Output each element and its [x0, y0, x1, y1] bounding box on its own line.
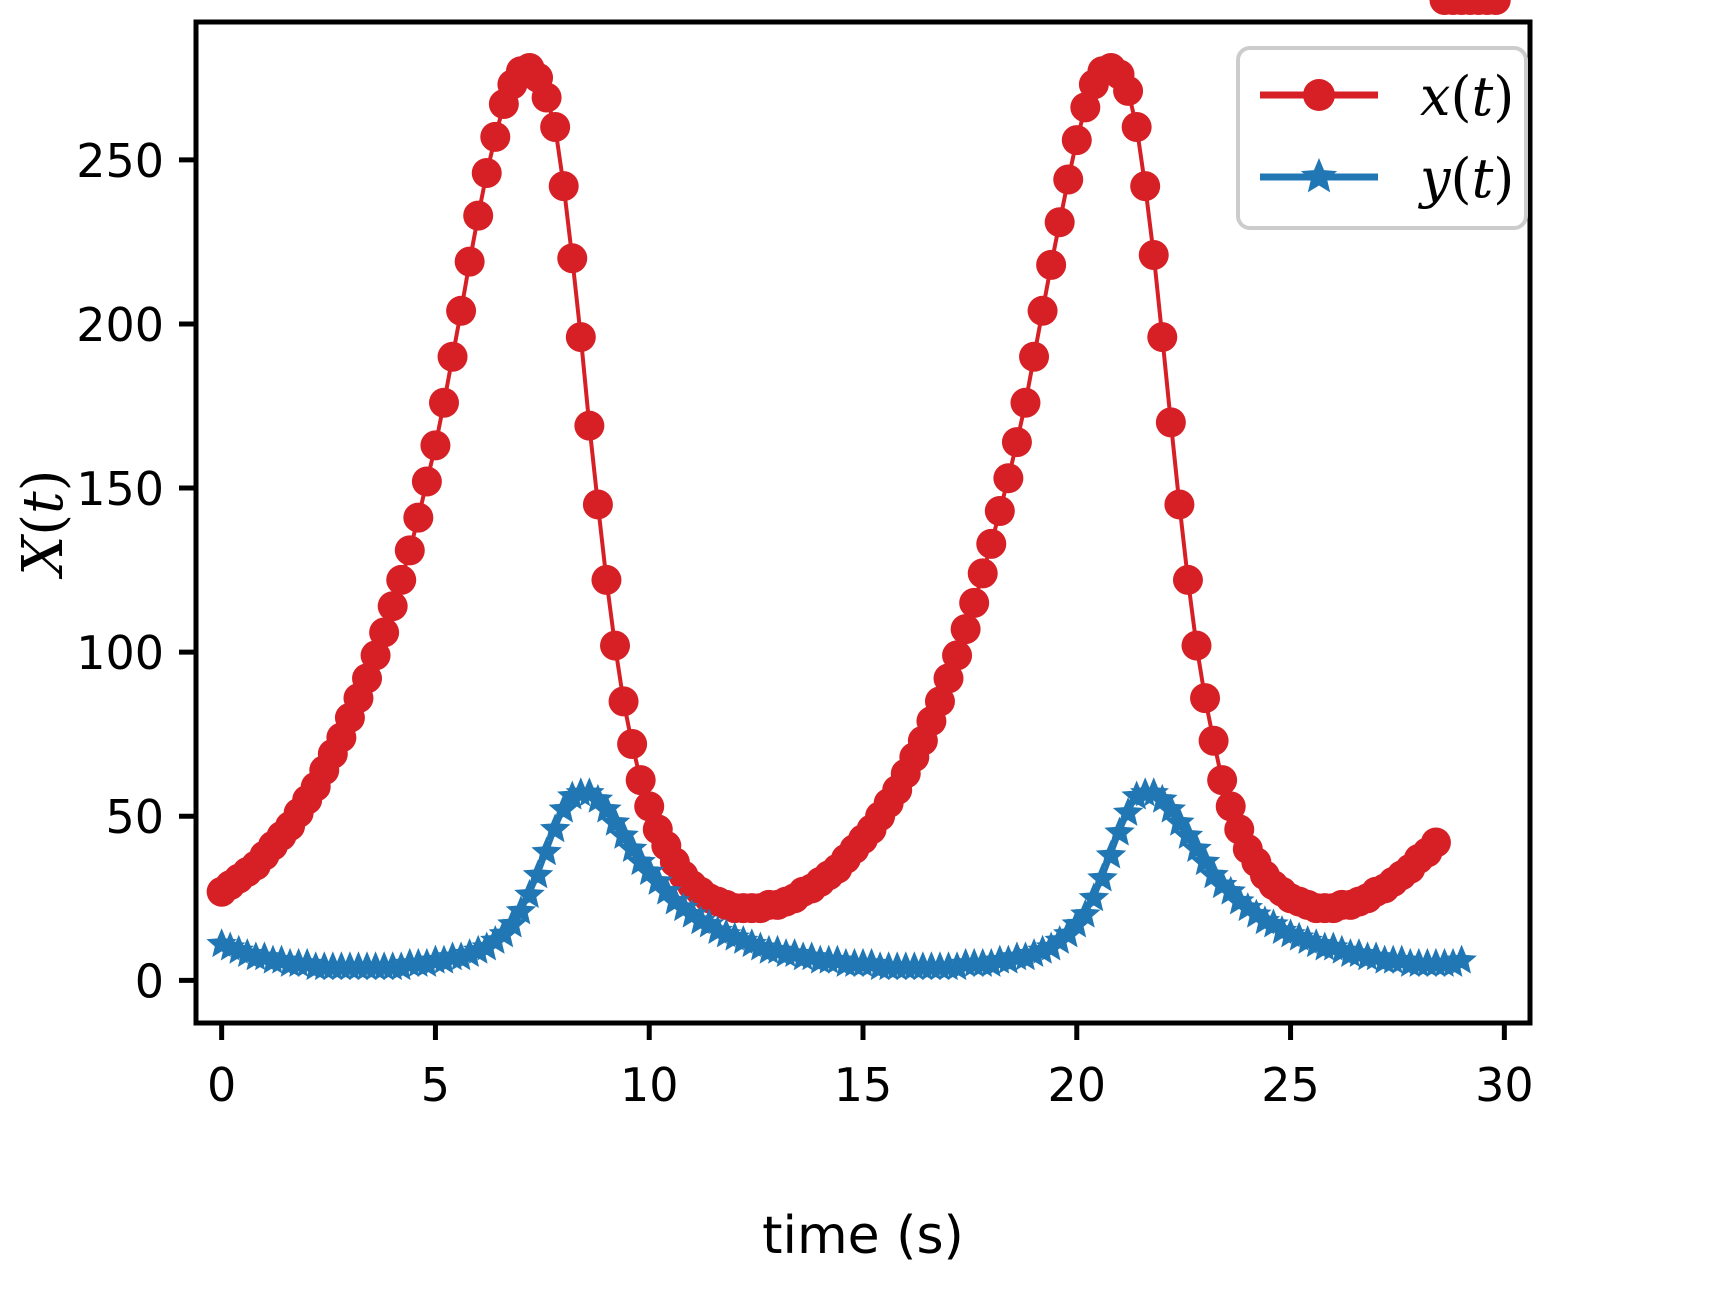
data-point-marker — [609, 686, 639, 716]
legend-label-x-of-t: x(t) — [1420, 65, 1514, 128]
data-point-marker — [1036, 250, 1066, 280]
data-point-marker — [480, 122, 510, 152]
data-point-marker — [942, 640, 972, 670]
data-point-marker — [591, 565, 621, 595]
data-point-marker — [1173, 565, 1203, 595]
chart-plot: 051015202530050100150200250 x(t)y(t) tim… — [0, 0, 1733, 1311]
data-point-marker — [600, 631, 630, 661]
data-point-marker — [1113, 76, 1143, 106]
data-point-marker — [959, 588, 989, 618]
data-point-marker — [1019, 342, 1049, 372]
data-point-marker — [386, 565, 416, 595]
data-point-marker — [1010, 388, 1040, 418]
data-point-marker — [617, 729, 647, 759]
data-point-marker — [455, 247, 485, 277]
y-tick-label: 50 — [105, 790, 164, 844]
x-tick-label: 20 — [1048, 1058, 1107, 1112]
chart-legend[interactable]: x(t)y(t) — [1238, 48, 1526, 228]
data-point-marker — [1156, 407, 1186, 437]
data-point-marker — [574, 411, 604, 441]
x-tick-label: 5 — [421, 1058, 450, 1112]
legend-marker-swatch — [1303, 79, 1335, 111]
data-point-marker — [472, 158, 502, 188]
data-point-marker — [532, 82, 562, 112]
data-point-marker — [1147, 322, 1177, 352]
data-point-marker — [976, 529, 1006, 559]
y-tick-label: 100 — [76, 626, 164, 680]
data-point-marker — [463, 201, 493, 231]
data-point-marker — [583, 489, 613, 519]
y-tick-label: 200 — [76, 298, 164, 352]
data-point-marker — [626, 765, 656, 795]
data-point-marker — [1139, 240, 1169, 270]
data-point-marker — [438, 342, 468, 372]
data-point-marker — [1164, 489, 1194, 519]
data-point-marker — [993, 463, 1023, 493]
data-point-marker — [1190, 683, 1220, 713]
y-axis-title: X(t) — [11, 469, 76, 579]
data-point-marker — [369, 617, 399, 647]
legend-label-y-of-t: y(t) — [1418, 147, 1514, 210]
x-tick-label: 15 — [834, 1058, 893, 1112]
data-point-marker — [446, 296, 476, 326]
data-point-marker — [566, 322, 596, 352]
data-point-marker — [1045, 207, 1075, 237]
data-point-marker — [395, 535, 425, 565]
data-point-marker — [557, 243, 587, 273]
data-point-marker — [951, 614, 981, 644]
data-point-marker — [1130, 171, 1160, 201]
data-point-marker — [968, 558, 998, 588]
data-point-marker — [412, 466, 442, 496]
data-point-marker — [540, 112, 570, 142]
data-point-marker — [429, 388, 459, 418]
data-point-marker — [403, 503, 433, 533]
data-point-marker — [1062, 125, 1092, 155]
x-tick-label: 25 — [1261, 1058, 1320, 1112]
x-tick-label: 30 — [1475, 1058, 1534, 1112]
data-point-marker — [1028, 296, 1058, 326]
data-point-marker — [420, 430, 450, 460]
data-point-marker — [1053, 165, 1083, 195]
x-tick-label: 10 — [620, 1058, 679, 1112]
x-axis-title: time (s) — [762, 1206, 964, 1266]
figure-canvas: 051015202530050100150200250 x(t)y(t) tim… — [0, 0, 1733, 1311]
data-point-marker — [985, 496, 1015, 526]
data-point-marker — [1122, 112, 1152, 142]
y-tick-label: 150 — [76, 462, 164, 516]
data-point-marker — [1207, 765, 1237, 795]
data-point-marker — [1002, 427, 1032, 457]
data-point-marker — [378, 591, 408, 621]
y-tick-label: 250 — [76, 134, 164, 188]
data-point-marker — [1199, 726, 1229, 756]
data-point-marker — [1182, 631, 1212, 661]
x-tick-label: 0 — [207, 1058, 236, 1112]
data-point-marker — [1421, 827, 1451, 857]
data-point-marker — [549, 171, 579, 201]
y-tick-label: 0 — [135, 954, 164, 1008]
